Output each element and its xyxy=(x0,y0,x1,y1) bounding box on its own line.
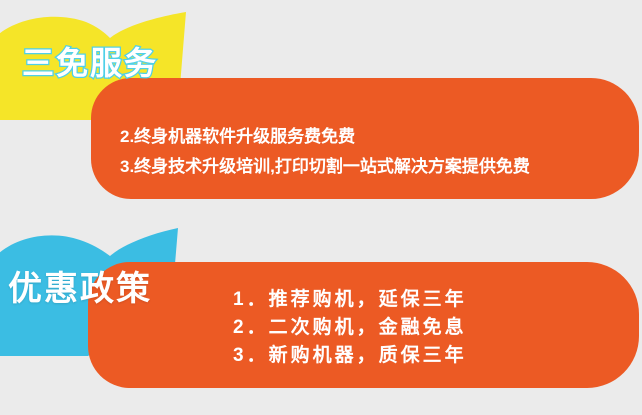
list-item: 2．二次购机，金融免息 xyxy=(233,314,467,342)
promo-poster: 三免服务 2.终身机器软件升级服务费免费 3.终身技术升级培训,打印切割一站式解… xyxy=(0,0,642,415)
preferential-policy-list: 1．推荐购机，延保三年 2．二次购机，金融免息 3．新购机器，质保三年 xyxy=(233,286,467,370)
list-item: 1．推荐购机，延保三年 xyxy=(233,286,467,314)
section-heading-preferential-policy: 优惠政策 xyxy=(8,268,152,310)
section-heading-free-services: 三免服务 xyxy=(22,43,158,83)
list-item: 2.终身机器软件升级服务费免费 xyxy=(120,122,530,152)
list-item: 3．新购机器，质保三年 xyxy=(233,342,467,370)
free-services-list: 2.终身机器软件升级服务费免费 3.终身技术升级培训,打印切割一站式解决方案提供… xyxy=(120,122,530,182)
list-item: 3.终身技术升级培训,打印切割一站式解决方案提供免费 xyxy=(120,152,530,182)
